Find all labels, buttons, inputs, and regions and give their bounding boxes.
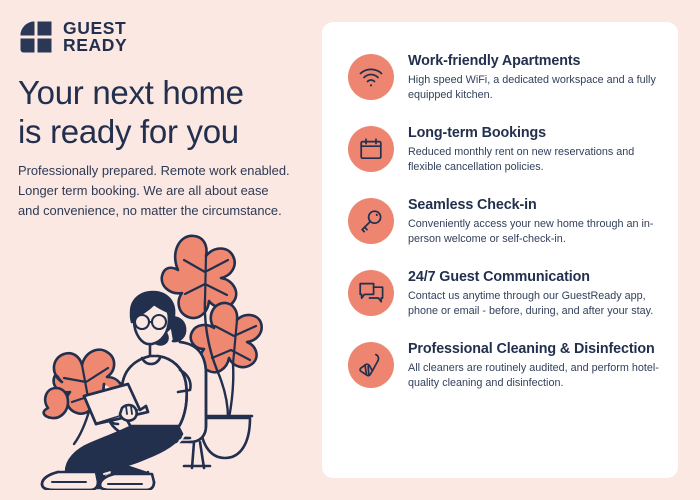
feature-item-work-friendly-apartments[interactable]: Work-friendly Apartments High speed WiFi… (348, 52, 660, 103)
hero-column: GUEST READY Your next home is ready for … (0, 0, 310, 500)
chat-bubbles-icon (348, 270, 394, 316)
woman-with-laptop-in-armchair-with-plants-illustration (28, 222, 308, 490)
headline-line-2: is ready for you (18, 113, 239, 150)
feature-description: High speed WiFi, a dedicated workspace a… (408, 73, 660, 103)
feature-text: Seamless Check-in Conveniently access yo… (408, 196, 660, 247)
calendar-icon (348, 126, 394, 172)
features-panel: Work-friendly Apartments High speed WiFi… (322, 22, 678, 478)
brand-name-line-2: READY (63, 37, 127, 54)
brand-logo[interactable]: GUEST READY (18, 19, 127, 55)
feature-item-seamless-check-in[interactable]: Seamless Check-in Conveniently access yo… (348, 196, 660, 247)
brand-wordmark: GUEST READY (63, 20, 127, 53)
marketing-poster: GUEST READY Your next home is ready for … (0, 0, 700, 500)
headline-line-1: Your next home (18, 74, 244, 111)
feature-text: Long-term Bookings Reduced monthly rent … (408, 124, 660, 175)
feature-title: 24/7 Guest Communication (408, 269, 660, 286)
feature-title: Professional Cleaning & Disinfection (408, 341, 660, 358)
wifi-icon (348, 54, 394, 100)
feature-description: Conveniently access your new home throug… (408, 217, 660, 247)
guestready-quadrant-logo-icon (18, 19, 54, 55)
feature-item-guest-communication[interactable]: 24/7 Guest Communication Contact us anyt… (348, 268, 660, 319)
page-title: Your next home is ready for you (18, 74, 308, 151)
feature-text: Work-friendly Apartments High speed WiFi… (408, 52, 660, 103)
feature-item-professional-cleaning[interactable]: Professional Cleaning & Disinfection All… (348, 340, 660, 391)
feature-text: 24/7 Guest Communication Contact us anyt… (408, 268, 660, 319)
key-icon (348, 198, 394, 244)
feature-title: Long-term Bookings (408, 125, 660, 142)
feature-title: Seamless Check-in (408, 197, 660, 214)
feature-item-long-term-bookings[interactable]: Long-term Bookings Reduced monthly rent … (348, 124, 660, 175)
broom-icon (348, 342, 394, 388)
feature-description: Reduced monthly rent on new reservations… (408, 145, 660, 175)
feature-text: Professional Cleaning & Disinfection All… (408, 340, 660, 391)
feature-title: Work-friendly Apartments (408, 53, 660, 70)
feature-description: Contact us anytime through our GuestRead… (408, 289, 660, 319)
hero-subcopy: Professionally prepared. Remote work ena… (18, 161, 290, 221)
feature-description: All cleaners are routinely audited, and … (408, 361, 660, 391)
